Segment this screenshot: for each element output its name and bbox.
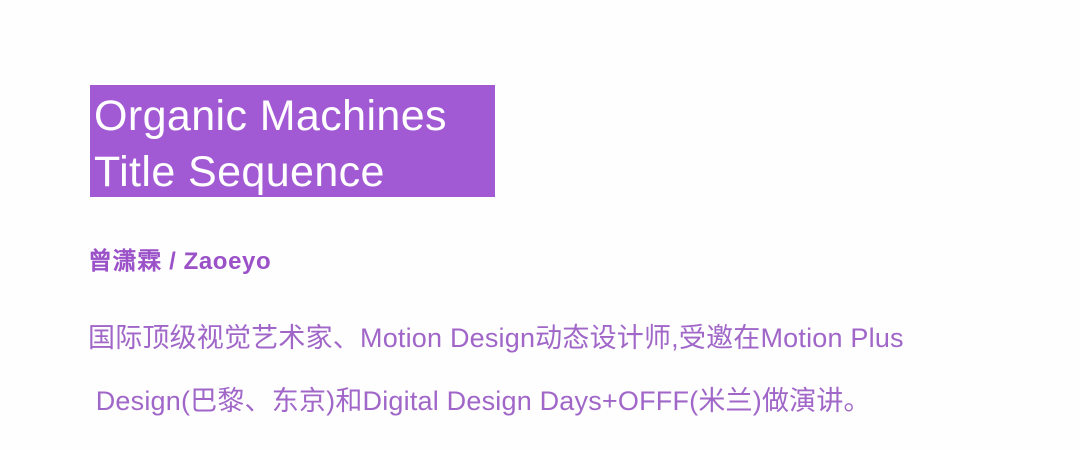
slide-root: Organic Machines Title Sequence 曾潇霖 / Za… (0, 0, 1080, 450)
title-line-secondary: Title Sequence (94, 151, 385, 194)
author-credit: 曾潇霖 / Zaoeyo (88, 247, 271, 277)
description-paragraph: 国际顶级视觉艺术家、Motion Design动态设计师,受邀在Motion P… (88, 307, 1048, 433)
description-line-1: 国际顶级视觉艺术家、Motion Design动态设计师,受邀在Motion P… (88, 307, 1048, 370)
description-line-2: Design(巴黎、东京)和Digital Design Days+OFFF(米… (88, 370, 1048, 433)
title-highlight-block: Organic Machines Title Sequence (90, 85, 495, 197)
title-line-primary: Organic Machines (94, 95, 447, 138)
